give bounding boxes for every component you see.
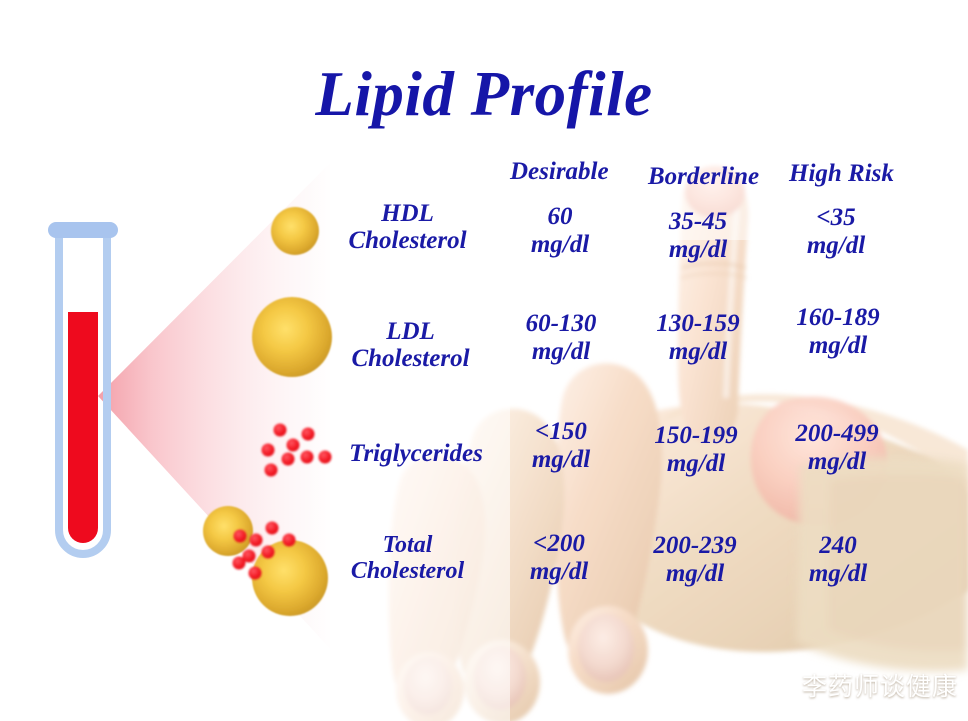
cell-total-highrisk: 240 mg/dl xyxy=(782,532,894,588)
cell-unit: mg/dl xyxy=(640,450,752,478)
cell-triglycerides-borderline: 150-199 mg/dl xyxy=(640,422,752,478)
cell-hdl-borderline: 35-45 mg/dl xyxy=(648,208,748,264)
cell-unit: mg/dl xyxy=(512,231,608,259)
cell-unit: mg/dl xyxy=(786,232,886,260)
cell-ldl-desirable: 60-130 mg/dl xyxy=(508,310,614,366)
lipid-profile-infographic: Lipid Profile Desirable Borderline High … xyxy=(0,0,968,721)
cell-unit: mg/dl xyxy=(508,338,614,366)
cell-total-borderline: 200-239 mg/dl xyxy=(639,532,751,588)
cell-value: 35-45 xyxy=(648,208,748,236)
row-label-ldl: LDL Cholesterol xyxy=(333,318,488,372)
cell-value: 240 xyxy=(782,532,894,560)
row-label-line2: Cholesterol xyxy=(333,345,488,372)
icon-red-dot-cluster xyxy=(262,424,332,477)
column-header-borderline: Borderline xyxy=(648,163,759,191)
row-label-total: Total Cholesterol xyxy=(330,533,485,585)
page-title: Lipid Profile xyxy=(0,58,968,131)
row-label-line1: LDL xyxy=(333,318,488,345)
icon-large-gold-sphere xyxy=(252,297,332,377)
row-label-line1: HDL xyxy=(330,200,485,227)
row-label-line1: Total xyxy=(330,533,485,559)
cell-unit: mg/dl xyxy=(780,448,894,476)
icon-spheres-and-dots xyxy=(203,506,328,616)
cell-value: 200-239 xyxy=(639,532,751,560)
cell-triglycerides-desirable: <150 mg/dl xyxy=(512,418,610,474)
cell-value: <150 xyxy=(512,418,610,446)
cell-value: 60-130 xyxy=(508,310,614,338)
cell-value: 200-499 xyxy=(780,420,894,448)
cell-unit: mg/dl xyxy=(782,560,894,588)
row-label-triglycerides: Triglycerides xyxy=(336,440,496,467)
cell-value: 130-159 xyxy=(642,310,754,338)
cell-ldl-borderline: 130-159 mg/dl xyxy=(642,310,754,366)
row-label-line2: Cholesterol xyxy=(330,559,485,585)
cell-unit: mg/dl xyxy=(512,446,610,474)
column-header-desirable: Desirable xyxy=(510,158,609,186)
cell-triglycerides-highrisk: 200-499 mg/dl xyxy=(780,420,894,476)
cell-hdl-desirable: 60 mg/dl xyxy=(512,203,608,259)
row-label-line1: Triglycerides xyxy=(336,440,496,467)
icon-small-gold-sphere xyxy=(271,207,319,255)
row-label-line2: Cholesterol xyxy=(330,227,485,254)
watermark: 李药师谈健康 xyxy=(802,667,958,703)
cell-total-desirable: <200 mg/dl xyxy=(509,530,609,586)
cell-value: 150-199 xyxy=(640,422,752,450)
cell-unit: mg/dl xyxy=(648,236,748,264)
row-label-hdl: HDL Cholesterol xyxy=(330,200,485,254)
cell-value: 60 xyxy=(512,203,608,231)
cell-value: <200 xyxy=(509,530,609,558)
cell-value: 160-189 xyxy=(782,304,894,332)
cell-ldl-highrisk: 160-189 mg/dl xyxy=(782,304,894,360)
cell-unit: mg/dl xyxy=(642,338,754,366)
cell-value: <35 xyxy=(786,204,886,232)
column-header-high-risk: High Risk xyxy=(789,160,894,188)
cell-hdl-highrisk: <35 mg/dl xyxy=(786,204,886,260)
cell-unit: mg/dl xyxy=(782,332,894,360)
cell-unit: mg/dl xyxy=(639,560,751,588)
cell-unit: mg/dl xyxy=(509,558,609,586)
